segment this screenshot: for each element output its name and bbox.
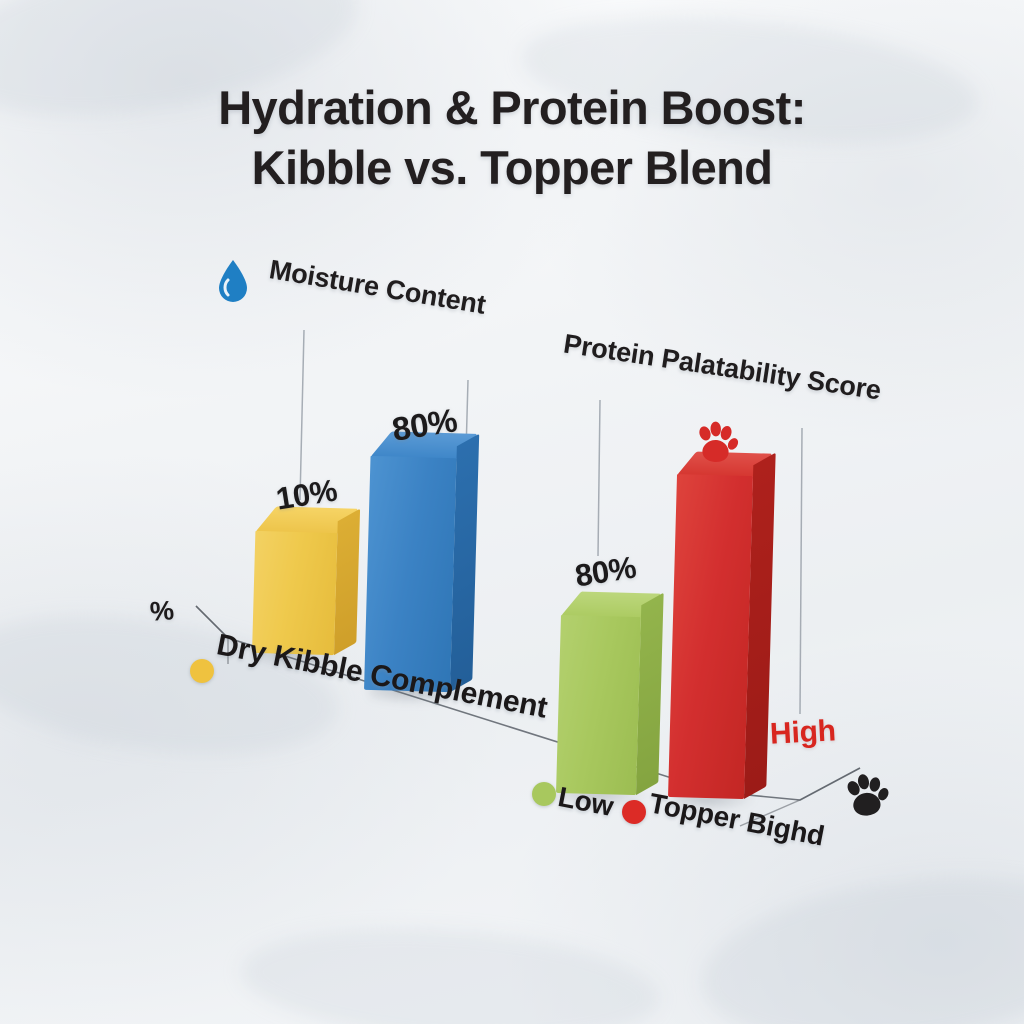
- leader-line-moisture-left: [300, 330, 304, 500]
- plot-floor: [0, 0, 1024, 1024]
- paw-print-icon: [691, 419, 741, 467]
- legend-dot-topper: [622, 800, 646, 824]
- paw-print-icon: [840, 770, 893, 823]
- bar-front-face: [556, 615, 641, 795]
- bar-low-palatability[interactable]: [556, 615, 641, 795]
- legend-dot-dry-kibble: [190, 659, 214, 683]
- bar-front-face: [364, 456, 457, 692]
- legend-dot-low: [532, 782, 556, 806]
- bar-topper-blend-moisture[interactable]: [364, 456, 457, 692]
- water-drop-icon: [216, 258, 250, 304]
- scale-label-high: High: [769, 714, 837, 751]
- chart-canvas: Hydration & Protein Boost: Kibble vs. To…: [0, 0, 1024, 1024]
- bar-side-face: [334, 509, 360, 656]
- leader-line-protein-left: [598, 400, 600, 556]
- leader-line-protein-right: [800, 428, 802, 714]
- bar-front-face: [668, 474, 753, 799]
- axis-unit-label: %: [149, 595, 175, 628]
- bar-high-palatability[interactable]: [668, 474, 753, 799]
